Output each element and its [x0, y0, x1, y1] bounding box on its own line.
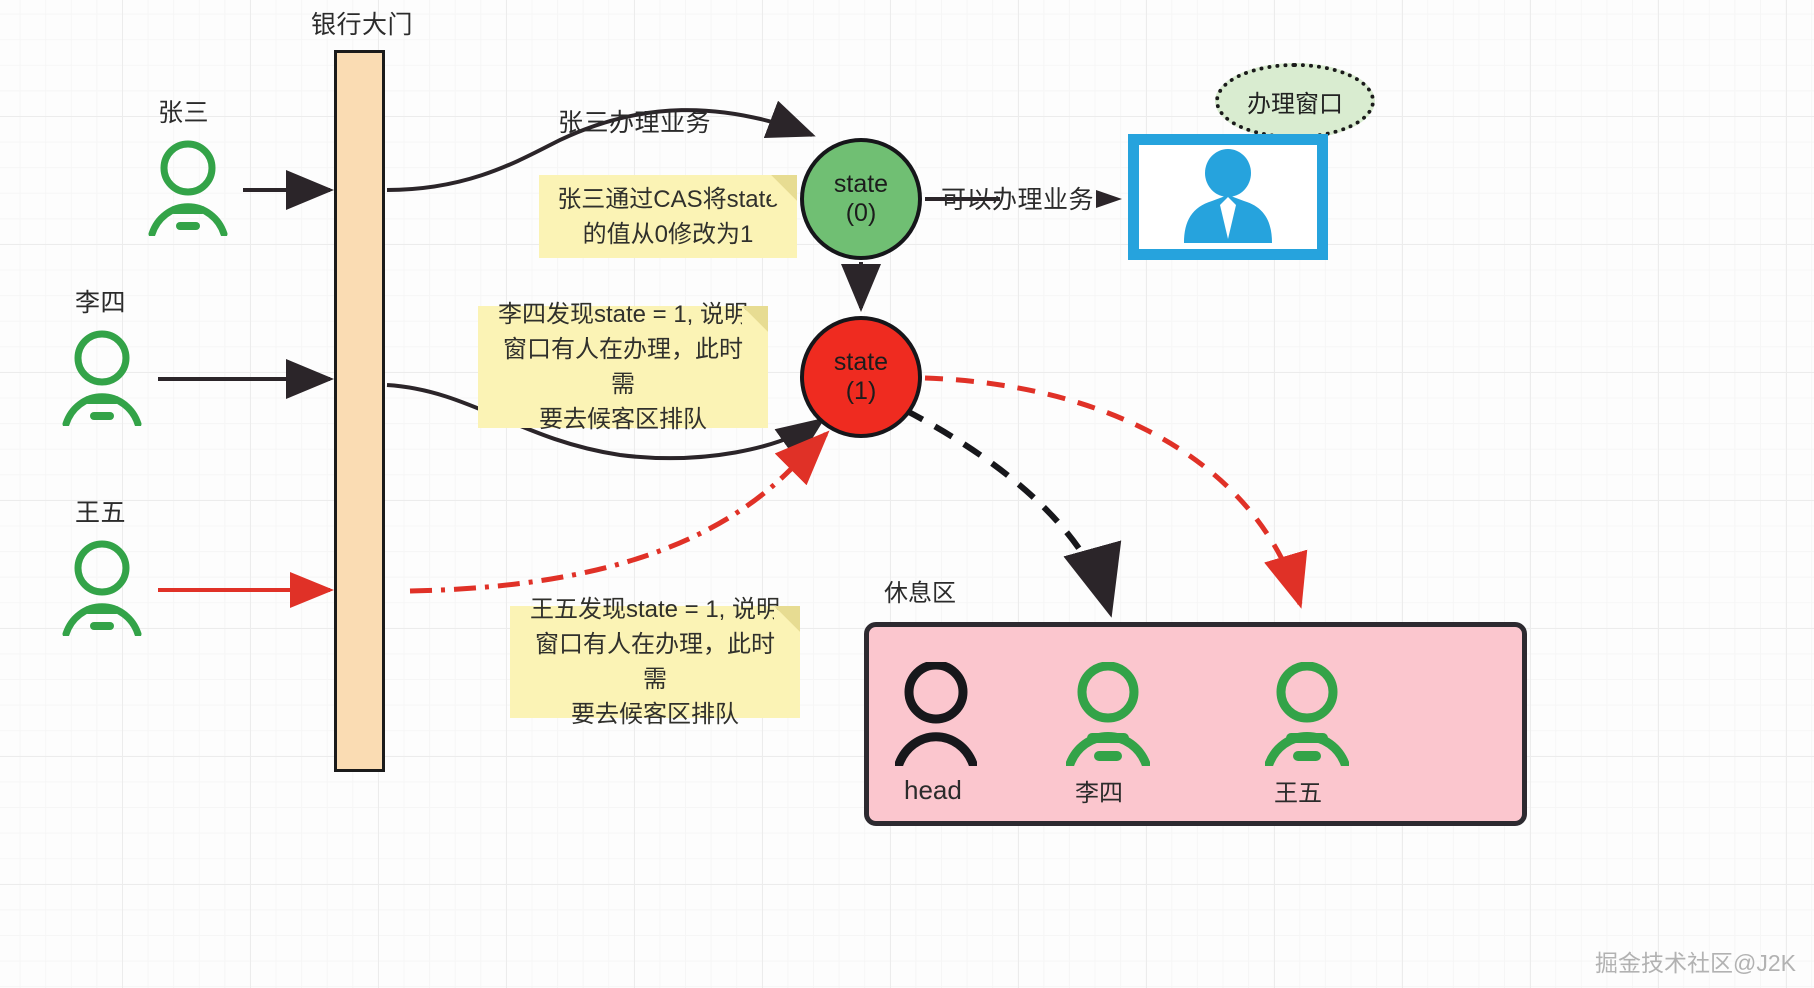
edge-label-can-do-business: 可以办理业务 — [941, 185, 1094, 215]
rest-node-label-head: head — [904, 775, 962, 806]
state-label: state — [834, 348, 888, 377]
bank-door-label: 银行大门 — [311, 10, 413, 40]
rest-node-label-lisi: 李四 — [1075, 773, 1123, 808]
note-line: 窗口有人在办理，此时需 — [524, 628, 786, 698]
person-label-wangwu: 王五 — [75, 498, 126, 528]
note-line: 窗口有人在办理，此时需 — [492, 333, 754, 403]
note-line: 张三通过CAS将state — [557, 183, 778, 218]
callout-teller-window: 办理窗口 — [1215, 63, 1375, 139]
arrowhead-to-window — [1096, 190, 1122, 208]
person-icon-head — [895, 662, 977, 766]
edge-state1-to-rest-wangwu — [925, 378, 1300, 604]
rest-area-label: 休息区 — [884, 573, 956, 608]
note-lisi: 李四发现state = 1, 说明 窗口有人在办理，此时需 要去候客区排队 — [478, 306, 768, 428]
note-line: 要去候客区排队 — [571, 698, 739, 733]
callout-label: 办理窗口 — [1247, 84, 1343, 119]
note-zhangsan: 张三通过CAS将state 的值从0修改为1 — [539, 175, 797, 258]
state-value: (0) — [846, 199, 877, 228]
note-fold-shadow-icon — [771, 175, 797, 201]
state-node-locked[interactable]: state (1) — [800, 316, 922, 438]
connector-layer — [0, 0, 1814, 988]
person-label-zhangsan: 张三 — [158, 98, 209, 128]
note-fold-shadow-icon — [742, 306, 768, 332]
person-icon-lisi — [60, 330, 144, 426]
person-label-lisi: 李四 — [75, 288, 126, 318]
note-line: 要去候客区排队 — [539, 403, 707, 438]
state-label: state — [834, 170, 888, 199]
business-person-icon — [1168, 147, 1288, 247]
watermark: 掘金技术社区@J2K — [1595, 944, 1796, 978]
state-value: (1) — [846, 377, 877, 406]
note-line: 的值从0修改为1 — [583, 218, 754, 253]
note-line: 李四发现state = 1, 说明 — [498, 298, 748, 333]
person-icon-wangwu — [60, 540, 144, 636]
person-icon-rest-wangwu — [1265, 662, 1349, 766]
edge-wangwu-dashdot-to-state1 — [410, 434, 826, 591]
edge-label-zhangsan-service: 张三办理业务 — [558, 108, 711, 138]
note-line: 王五发现state = 1, 说明 — [530, 593, 780, 628]
person-icon-zhangsan — [146, 140, 230, 236]
state-node-available[interactable]: state (0) — [800, 138, 922, 260]
person-icon-rest-lisi — [1066, 662, 1150, 766]
teller-window-frame — [1128, 134, 1328, 260]
note-fold-shadow-icon — [774, 606, 800, 632]
bank-door — [334, 50, 385, 772]
rest-node-label-wangwu: 王五 — [1274, 773, 1322, 808]
diagram-canvas: 张三 李四 王五 银行大门 张三办理业务 可以办理业务 张三通过CAS将stat… — [0, 0, 1814, 988]
note-wangwu: 王五发现state = 1, 说明 窗口有人在办理，此时需 要去候客区排队 — [510, 606, 800, 718]
